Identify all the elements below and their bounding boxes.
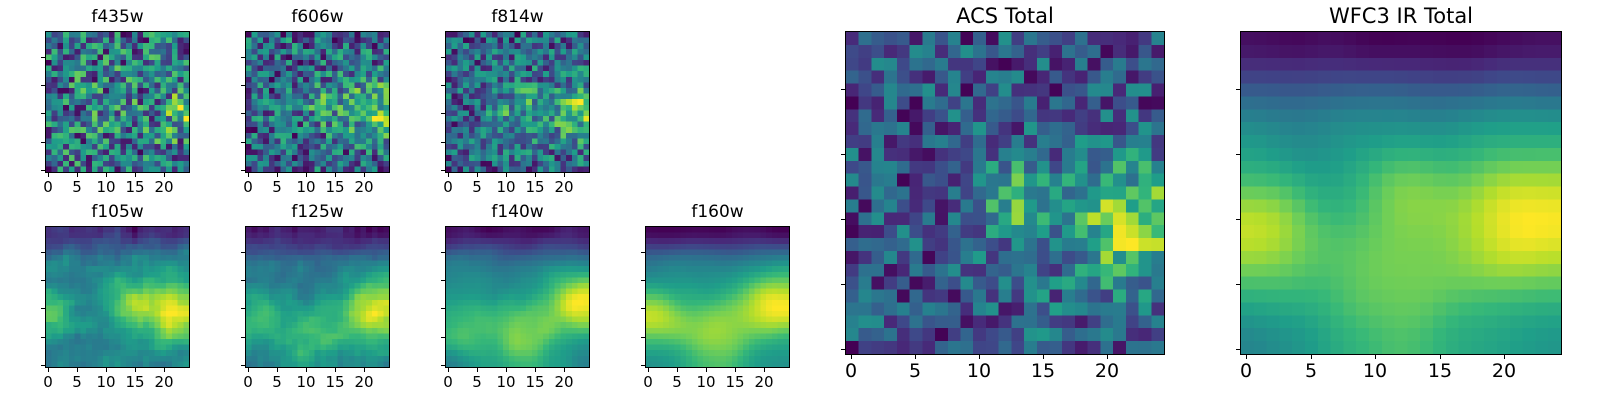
- xticklabel-f105w-1: 5: [72, 375, 82, 390]
- ytick-f435w-1: [41, 142, 45, 143]
- xtick-f814w-1: [477, 173, 478, 177]
- panel-title-f606w: f606w: [245, 9, 390, 26]
- heatmap-canvas-f160w: [646, 227, 789, 367]
- xticklabel-f105w-4: 20: [154, 375, 173, 390]
- ytick-f814w-4: [441, 57, 445, 58]
- heatmap-canvas-wfc3-ir-total: [1241, 32, 1561, 354]
- xticklabel-f160w-4: 20: [754, 375, 773, 390]
- xticklabel-f814w-0: 0: [443, 180, 453, 195]
- xtick-f435w-0: [48, 173, 49, 177]
- xticklabel-f140w-2: 10: [496, 375, 515, 390]
- xticklabel-f140w-4: 20: [554, 375, 573, 390]
- heatmap-canvas-acs-total: [846, 32, 1164, 354]
- ytick-acs-total-3: [841, 154, 845, 155]
- xtick-f606w-4: [364, 173, 365, 177]
- xticklabel-f105w-3: 15: [125, 375, 144, 390]
- ytick-f105w-2: [41, 308, 45, 309]
- heatmap-canvas-f105w: [46, 227, 189, 367]
- xtick-f140w-3: [535, 368, 536, 372]
- ytick-f606w-1: [241, 142, 245, 143]
- xticklabel-acs-total-1: 5: [909, 362, 921, 381]
- ytick-f125w-1: [241, 337, 245, 338]
- xtick-f125w-4: [364, 368, 365, 372]
- xticklabel-acs-total-2: 10: [967, 362, 991, 381]
- xticklabel-f160w-0: 0: [643, 375, 653, 390]
- panel-title-acs-total: ACS Total: [845, 6, 1165, 27]
- xticklabel-f125w-3: 15: [325, 375, 344, 390]
- ytick-f140w-4: [441, 252, 445, 253]
- ytick-acs-total-1: [841, 284, 845, 285]
- heatmap-f606w: [245, 31, 390, 173]
- heatmap-f140w: [445, 226, 590, 368]
- xtick-f125w-3: [335, 368, 336, 372]
- ytick-acs-total-2: [841, 219, 845, 220]
- ytick-f606w-4: [241, 57, 245, 58]
- xtick-f160w-1: [677, 368, 678, 372]
- xtick-f814w-0: [448, 173, 449, 177]
- xticklabel-f814w-2: 10: [496, 180, 515, 195]
- xticklabel-f125w-1: 5: [272, 375, 282, 390]
- ytick-f125w-4: [241, 252, 245, 253]
- xtick-f160w-0: [648, 368, 649, 372]
- xtick-f160w-4: [764, 368, 765, 372]
- xtick-f140w-1: [477, 368, 478, 372]
- ytick-f606w-3: [241, 85, 245, 86]
- ytick-f105w-4: [41, 252, 45, 253]
- xtick-f606w-3: [335, 173, 336, 177]
- heatmap-f160w: [645, 226, 790, 368]
- xticklabel-f140w-0: 0: [443, 375, 453, 390]
- xticklabel-wfc3-ir-total-4: 20: [1492, 362, 1516, 381]
- heatmap-canvas-f125w: [246, 227, 389, 367]
- ytick-f140w-1: [441, 337, 445, 338]
- heatmap-canvas-f606w: [246, 32, 389, 172]
- xtick-wfc3-ir-total-4: [1504, 355, 1505, 359]
- heatmap-f105w: [45, 226, 190, 368]
- heatmap-wfc3-ir-total: [1240, 31, 1562, 355]
- xtick-f606w-2: [306, 173, 307, 177]
- panel-title-f814w: f814w: [445, 9, 590, 26]
- xticklabel-f105w-0: 0: [43, 375, 53, 390]
- xtick-f814w-4: [564, 173, 565, 177]
- xtick-f105w-1: [77, 368, 78, 372]
- xticklabel-f160w-2: 10: [696, 375, 715, 390]
- ytick-wfc3-ir-total-1: [1236, 284, 1240, 285]
- xticklabel-f606w-0: 0: [243, 180, 253, 195]
- xtick-acs-total-1: [915, 355, 916, 359]
- ytick-wfc3-ir-total-3: [1236, 154, 1240, 155]
- xticklabel-wfc3-ir-total-3: 15: [1428, 362, 1452, 381]
- ytick-acs-total-0: [841, 349, 845, 350]
- xtick-wfc3-ir-total-0: [1246, 355, 1247, 359]
- heatmap-f125w: [245, 226, 390, 368]
- xticklabel-acs-total-4: 20: [1095, 362, 1119, 381]
- ytick-f814w-1: [441, 142, 445, 143]
- xticklabel-f606w-2: 10: [296, 180, 315, 195]
- xticklabel-f606w-3: 15: [325, 180, 344, 195]
- ytick-f814w-0: [441, 170, 445, 171]
- ytick-f160w-2: [641, 308, 645, 309]
- xticklabel-f125w-2: 10: [296, 375, 315, 390]
- ytick-f435w-0: [41, 170, 45, 171]
- xtick-wfc3-ir-total-3: [1440, 355, 1441, 359]
- xtick-f140w-2: [506, 368, 507, 372]
- heatmap-canvas-f814w: [446, 32, 589, 172]
- xtick-f814w-2: [506, 173, 507, 177]
- xticklabel-wfc3-ir-total-0: 0: [1240, 362, 1252, 381]
- xtick-f435w-2: [106, 173, 107, 177]
- ytick-f160w-0: [641, 365, 645, 366]
- xtick-f435w-3: [135, 173, 136, 177]
- ytick-f105w-1: [41, 337, 45, 338]
- xtick-wfc3-ir-total-1: [1311, 355, 1312, 359]
- ytick-wfc3-ir-total-4: [1236, 89, 1240, 90]
- xticklabel-f160w-3: 15: [725, 375, 744, 390]
- ytick-f435w-4: [41, 57, 45, 58]
- panel-title-f105w: f105w: [45, 204, 190, 221]
- xticklabel-f814w-3: 15: [525, 180, 544, 195]
- ytick-acs-total-4: [841, 89, 845, 90]
- heatmap-f814w: [445, 31, 590, 173]
- xtick-acs-total-3: [1043, 355, 1044, 359]
- ytick-f105w-3: [41, 280, 45, 281]
- xticklabel-f435w-2: 10: [96, 180, 115, 195]
- xticklabel-f160w-1: 5: [672, 375, 682, 390]
- ytick-f140w-3: [441, 280, 445, 281]
- xticklabel-f105w-2: 10: [96, 375, 115, 390]
- xtick-f140w-0: [448, 368, 449, 372]
- ytick-f160w-1: [641, 337, 645, 338]
- xtick-f125w-2: [306, 368, 307, 372]
- ytick-f125w-0: [241, 365, 245, 366]
- xticklabel-f435w-0: 0: [43, 180, 53, 195]
- ytick-f140w-0: [441, 365, 445, 366]
- ytick-f105w-0: [41, 365, 45, 366]
- ytick-f160w-3: [641, 280, 645, 281]
- xtick-acs-total-2: [979, 355, 980, 359]
- xtick-f125w-0: [248, 368, 249, 372]
- xtick-f606w-0: [248, 173, 249, 177]
- xticklabel-f435w-4: 20: [154, 180, 173, 195]
- xtick-f435w-4: [164, 173, 165, 177]
- ytick-f435w-3: [41, 85, 45, 86]
- panel-title-f435w: f435w: [45, 9, 190, 26]
- xtick-acs-total-0: [851, 355, 852, 359]
- xtick-f105w-2: [106, 368, 107, 372]
- panel-title-f160w: f160w: [645, 204, 790, 221]
- xtick-f105w-3: [135, 368, 136, 372]
- xtick-f140w-4: [564, 368, 565, 372]
- xticklabel-f125w-0: 0: [243, 375, 253, 390]
- ytick-f125w-2: [241, 308, 245, 309]
- ytick-wfc3-ir-total-2: [1236, 219, 1240, 220]
- panel-title-f125w: f125w: [245, 204, 390, 221]
- xticklabel-f814w-1: 5: [472, 180, 482, 195]
- xtick-f435w-1: [77, 173, 78, 177]
- xtick-f125w-1: [277, 368, 278, 372]
- xtick-f160w-2: [706, 368, 707, 372]
- heatmap-acs-total: [845, 31, 1165, 355]
- ytick-f160w-4: [641, 252, 645, 253]
- xtick-wfc3-ir-total-2: [1375, 355, 1376, 359]
- xtick-f814w-3: [535, 173, 536, 177]
- xticklabel-f606w-4: 20: [354, 180, 373, 195]
- ytick-f435w-2: [41, 113, 45, 114]
- xticklabel-wfc3-ir-total-1: 5: [1305, 362, 1317, 381]
- figure-canvas: f435w0510152005101520f606w05101520051015…: [0, 0, 1600, 400]
- heatmap-f435w: [45, 31, 190, 173]
- ytick-f140w-2: [441, 308, 445, 309]
- xtick-f160w-3: [735, 368, 736, 372]
- panel-title-wfc3-ir-total: WFC3 IR Total: [1240, 6, 1562, 27]
- xticklabel-f435w-3: 15: [125, 180, 144, 195]
- xticklabel-f140w-1: 5: [472, 375, 482, 390]
- xticklabel-f606w-1: 5: [272, 180, 282, 195]
- ytick-f606w-2: [241, 113, 245, 114]
- ytick-f814w-3: [441, 85, 445, 86]
- heatmap-canvas-f140w: [446, 227, 589, 367]
- heatmap-canvas-f435w: [46, 32, 189, 172]
- xticklabel-f435w-1: 5: [72, 180, 82, 195]
- ytick-f814w-2: [441, 113, 445, 114]
- xticklabel-f814w-4: 20: [554, 180, 573, 195]
- xticklabel-f140w-3: 15: [525, 375, 544, 390]
- panel-title-f140w: f140w: [445, 204, 590, 221]
- xticklabel-f125w-4: 20: [354, 375, 373, 390]
- ytick-wfc3-ir-total-0: [1236, 349, 1240, 350]
- xticklabel-wfc3-ir-total-2: 10: [1363, 362, 1387, 381]
- xtick-f606w-1: [277, 173, 278, 177]
- ytick-f125w-3: [241, 280, 245, 281]
- xtick-f105w-4: [164, 368, 165, 372]
- xtick-acs-total-4: [1107, 355, 1108, 359]
- xticklabel-acs-total-3: 15: [1031, 362, 1055, 381]
- xtick-f105w-0: [48, 368, 49, 372]
- xticklabel-acs-total-0: 0: [845, 362, 857, 381]
- ytick-f606w-0: [241, 170, 245, 171]
